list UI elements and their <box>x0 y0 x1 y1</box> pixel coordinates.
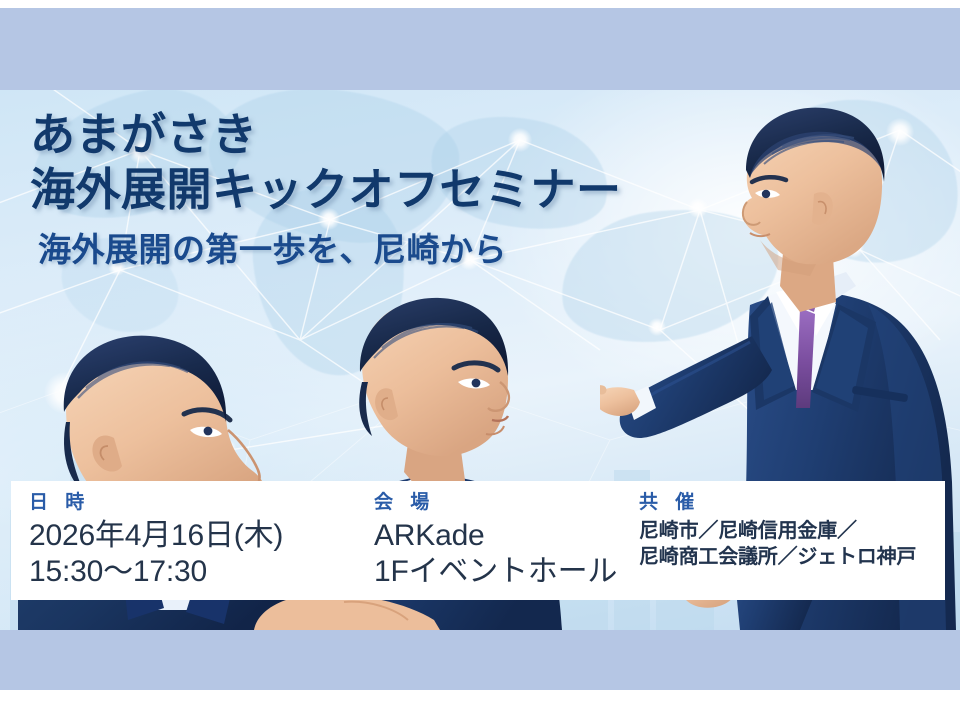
headline-subtitle: 海外展開の第一歩を、尼崎から <box>38 230 690 270</box>
bottom-band <box>0 630 960 690</box>
info-label-venue: 会 場 <box>374 493 639 514</box>
info-value-venue: ARKade 1Fイベントホール <box>374 518 639 591</box>
info-column-cohost: 共 催 尼崎市／尼崎信用金庫／ 尼崎商工会議所／ジェトロ神戸 <box>639 481 939 571</box>
info-column-date: 日 時 2026年4月16日(木) 15:30〜17:30 <box>11 481 374 591</box>
info-column-venue: 会 場 ARKade 1Fイベントホール <box>374 481 639 591</box>
headline-block: あまがさき 海外展開キックオフセミナー 海外展開の第一歩を、尼崎から <box>30 108 690 269</box>
info-label-date: 日 時 <box>29 493 374 514</box>
event-info-panel: 日 時 2026年4月16日(木) 15:30〜17:30 会 場 ARKade… <box>11 481 945 600</box>
info-value-date: 2026年4月16日(木) 15:30〜17:30 <box>29 518 374 591</box>
seminar-poster: あまがさき 海外展開キックオフセミナー 海外展開の第一歩を、尼崎から 日 時 2… <box>0 0 960 720</box>
headline-line-2: 海外展開キックオフセミナー <box>30 163 690 218</box>
headline-line-1: あまがさき <box>30 108 690 163</box>
info-value-cohost: 尼崎市／尼崎信用金庫／ 尼崎商工会議所／ジェトロ神戸 <box>639 518 939 571</box>
info-label-cohost: 共 催 <box>639 493 939 514</box>
top-band <box>0 8 960 90</box>
